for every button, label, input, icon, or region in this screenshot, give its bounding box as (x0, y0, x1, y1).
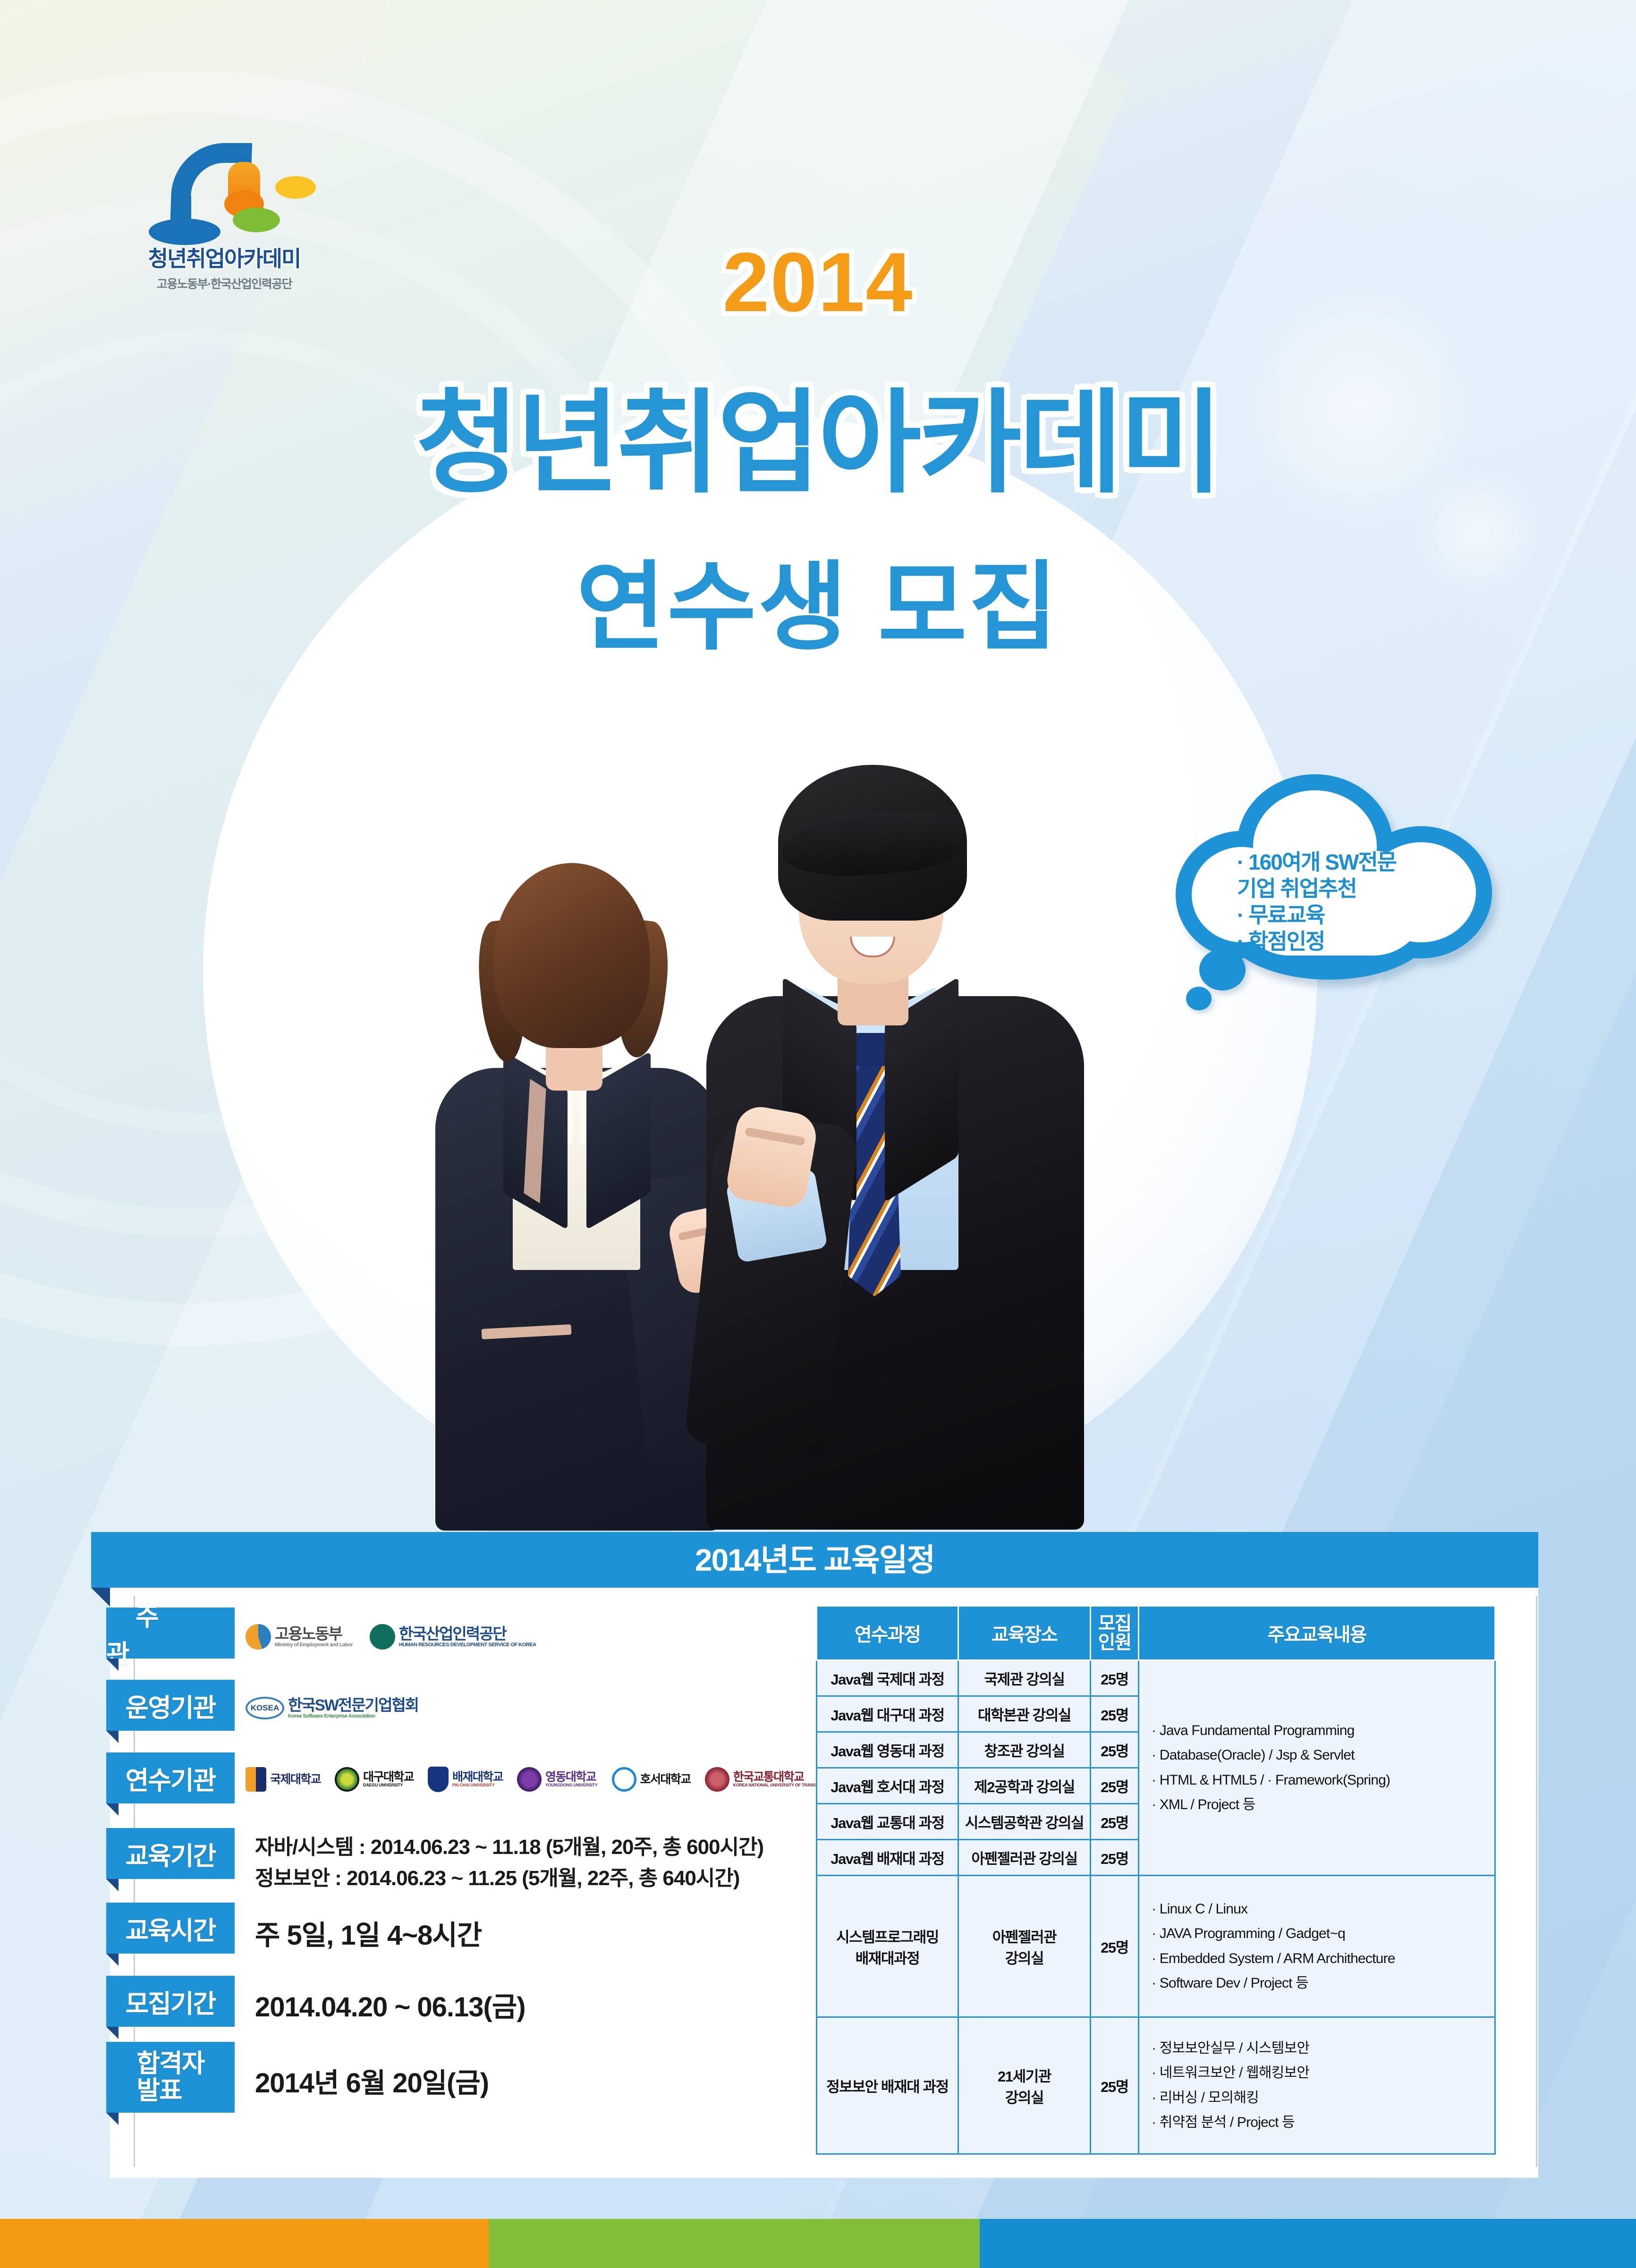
cell-place: 아펜젤러관 강의실 (958, 1876, 1091, 2017)
info-label-operating: 운영기관 (106, 1680, 235, 1731)
info-value-period: 자바/시스템 : 2014.06.23 ~ 11.18 (5개월, 20주, 총… (255, 1832, 763, 1894)
thought-bubble: · 160여개 SW전문 기업 취업추천 · 무료교육 · 학점인정 (1166, 770, 1497, 996)
cell-course: Java웹 교통대 과정 (817, 1804, 958, 1840)
cell-place: 국제관 강의실 (958, 1660, 1091, 1696)
cell-course: Java웹 대구대 과정 (817, 1696, 958, 1732)
operating-org-logo: KOSEA 한국SW전문기업협회 Korea Software Enterpri… (246, 1697, 418, 1719)
host-org-logo-item: 한국산업인력공단 HUMAN RESOURCES DEVELOPMENT SER… (370, 1624, 536, 1650)
training-org-name: 호서대학교 (640, 1773, 691, 1786)
host-org-logo-item: 고용노동부 Ministry of Employment and Labor (246, 1624, 353, 1650)
headline-main: 청년취업아카데미 (0, 352, 1636, 515)
operating-org-name-en: Korea Software Enterprise Association (288, 1714, 418, 1719)
th-place: 교육장소 (958, 1606, 1091, 1660)
cell-quota: 25명 (1091, 1876, 1139, 2017)
training-org-logo-item: 대구대학교 DAEGU UNIVERSITY (335, 1767, 414, 1792)
info-label-period: 교육기간 (106, 1828, 235, 1879)
operating-org-logo-item: KOSEA 한국SW전문기업협회 Korea Software Enterpri… (246, 1697, 418, 1719)
cell-quota: 25명 (1091, 1732, 1139, 1768)
cell-quota: 25명 (1091, 1840, 1139, 1876)
panel-right-rule (1536, 1596, 1537, 2167)
bubble-tail-small (1186, 987, 1212, 1010)
table-row: Java웹 국제대 과정 국제관 강의실 25명 · Java Fundamen… (817, 1660, 1495, 1696)
host-org-name: 고용노동부 (275, 1626, 353, 1642)
cell-course: Java웹 국제대 과정 (817, 1660, 958, 1696)
info-label-host: 주 관 (106, 1608, 235, 1659)
cell-contents: · Java Fundamental Programming · Databas… (1139, 1660, 1495, 1876)
training-org-logos: 국제대학교 대구대학교 DAEGU UNIVERSITY 배재대학교 PAI C… (246, 1767, 839, 1792)
logo-orange-drop-icon (228, 162, 260, 215)
training-org-name: 대구대학교 (363, 1771, 414, 1783)
training-org-name: 배재대학교 (452, 1771, 503, 1783)
info-label-hours: 교육시간 (106, 1903, 235, 1954)
cell-place: 대학본관 강의실 (958, 1696, 1091, 1732)
schedule-banner: 2014년도 교육일정 (91, 1532, 1538, 1588)
th-contents: 주요교육내용 (1139, 1606, 1495, 1660)
academy-logo-mark (102, 139, 347, 241)
training-org-name-en: YOUNGDONG UNIVERSITY (545, 1783, 598, 1787)
host-org-name: 한국산업인력공단 (399, 1626, 536, 1642)
cell-course: Java웹 배재대 과정 (817, 1840, 958, 1876)
poster-root: 청년취업아카데미 고용노동부·한국산업인력공단 2014 청년취업아카데미 연수… (0, 0, 1636, 2268)
host-org-logos: 고용노동부 Ministry of Employment and Labor 한… (246, 1624, 536, 1650)
training-org-logo-item: 호서대학교 (612, 1767, 691, 1792)
logo-green-ellipse-icon (233, 208, 280, 232)
cell-quota: 25명 (1091, 1660, 1139, 1696)
training-org-logo-item: 국제대학교 (246, 1767, 321, 1792)
cell-place: 창조관 강의실 (958, 1732, 1091, 1768)
cell-course: Java웹 호서대 과정 (817, 1768, 958, 1804)
kukje-univ-emblem-icon (246, 1767, 266, 1792)
table-row: 정보보안 배재대 과정 21세기관 강의실 25명 · 정보보안실무 / 시스템… (817, 2017, 1495, 2154)
training-org-logo-item: 배재대학교 PAI CHAI UNIVERSITY (428, 1767, 503, 1792)
cell-place: 21세기관 강의실 (958, 2017, 1091, 2154)
training-org-logo-item: 영동대학교 YOUNGDONG UNIVERSITY (517, 1767, 598, 1792)
host-org-name-en: HUMAN RESOURCES DEVELOPMENT SERVICE OF K… (399, 1642, 536, 1648)
training-org-name: 영동대학교 (545, 1771, 598, 1783)
cell-place: 시스템공학관 강의실 (958, 1804, 1091, 1840)
cell-course: 정보보안 배재대 과정 (817, 2017, 958, 2154)
th-quota: 모집 인원 (1091, 1606, 1139, 1660)
schedule-banner-title: 2014년도 교육일정 (91, 1532, 1538, 1588)
info-value-announce: 2014년 6월 20일(금) (255, 2061, 489, 2100)
table-row: 시스템프로그래밍 배재대과정 아펜젤러관 강의실 25명 · Linux C /… (817, 1876, 1495, 2017)
cell-quota: 25명 (1091, 1696, 1139, 1732)
cell-contents: · Linux C / Linux · JAVA Programming / G… (1139, 1876, 1495, 2017)
info-label-announce: 합격자 발표 (106, 2042, 235, 2113)
male-student-figure (661, 760, 1124, 1530)
ministry-emblem-icon (246, 1624, 271, 1650)
bubble-tail-large (1199, 949, 1246, 990)
youngdong-univ-emblem-icon (517, 1767, 542, 1792)
cell-quota: 25명 (1091, 2017, 1139, 2154)
cell-place: 아펜젤러관 강의실 (958, 1840, 1091, 1876)
footer-bar-blue (980, 2219, 1636, 2268)
footer-color-bar (0, 2219, 1636, 2268)
cell-course: 시스템프로그래밍 배재대과정 (817, 1876, 958, 2017)
paichai-univ-emblem-icon (428, 1767, 449, 1792)
hoseo-univ-emblem-icon (612, 1767, 636, 1792)
training-org-name: 국제대학교 (270, 1773, 321, 1786)
schedule-table: 연수과정 교육장소 모집 인원 주요교육내용 Java웹 국제대 과정 국제관 … (816, 1605, 1496, 2155)
female-hair (494, 863, 650, 1048)
cell-contents: · 정보보안실무 / 시스템보안 · 네트워크보안 / 웹해킹보안 · 리버싱 … (1139, 2017, 1495, 2154)
hrdkorea-emblem-icon (370, 1624, 395, 1650)
thought-bubble-text: · 160여개 SW전문 기업 취업추천 · 무료교육 · 학점인정 (1237, 849, 1459, 955)
training-org-name-en: PAI CHAI UNIVERSITY (452, 1783, 503, 1787)
kntu-emblem-icon (705, 1767, 729, 1792)
host-org-name-en: Ministry of Employment and Labor (275, 1642, 353, 1648)
footer-bar-green (489, 2219, 980, 2268)
male-mouth (850, 937, 895, 957)
kosea-badge-text: KOSEA (251, 1703, 279, 1713)
info-value-recruit: 2014.04.20 ~ 06.13(금) (255, 1985, 526, 2024)
info-label-training: 연수기관 (106, 1752, 235, 1803)
table-header-row: 연수과정 교육장소 모집 인원 주요교육내용 (817, 1606, 1495, 1660)
operating-org-name: 한국SW전문기업협회 (288, 1697, 418, 1714)
kosea-emblem-icon: KOSEA (246, 1697, 284, 1719)
training-org-name-en: DAEGU UNIVERSITY (363, 1783, 414, 1787)
headline-year: 2014 (0, 234, 1636, 330)
cell-place: 제2공학과 강의실 (958, 1768, 1091, 1804)
logo-yellow-ellipse-icon (275, 176, 316, 199)
info-label-recruit: 모집기간 (106, 1976, 235, 2027)
cell-course: Java웹 영동대 과정 (817, 1732, 958, 1768)
th-course: 연수과정 (817, 1606, 958, 1660)
info-value-hours: 주 5일, 1일 4~8시간 (255, 1913, 482, 1953)
headline-sub: 연수생 모집 (0, 529, 1636, 669)
footer-bar-orange (0, 2219, 489, 2268)
daegu-univ-emblem-icon (335, 1767, 359, 1792)
student-photo (359, 708, 1190, 1530)
cell-quota: 25명 (1091, 1768, 1139, 1804)
cell-quota: 25명 (1091, 1804, 1139, 1840)
